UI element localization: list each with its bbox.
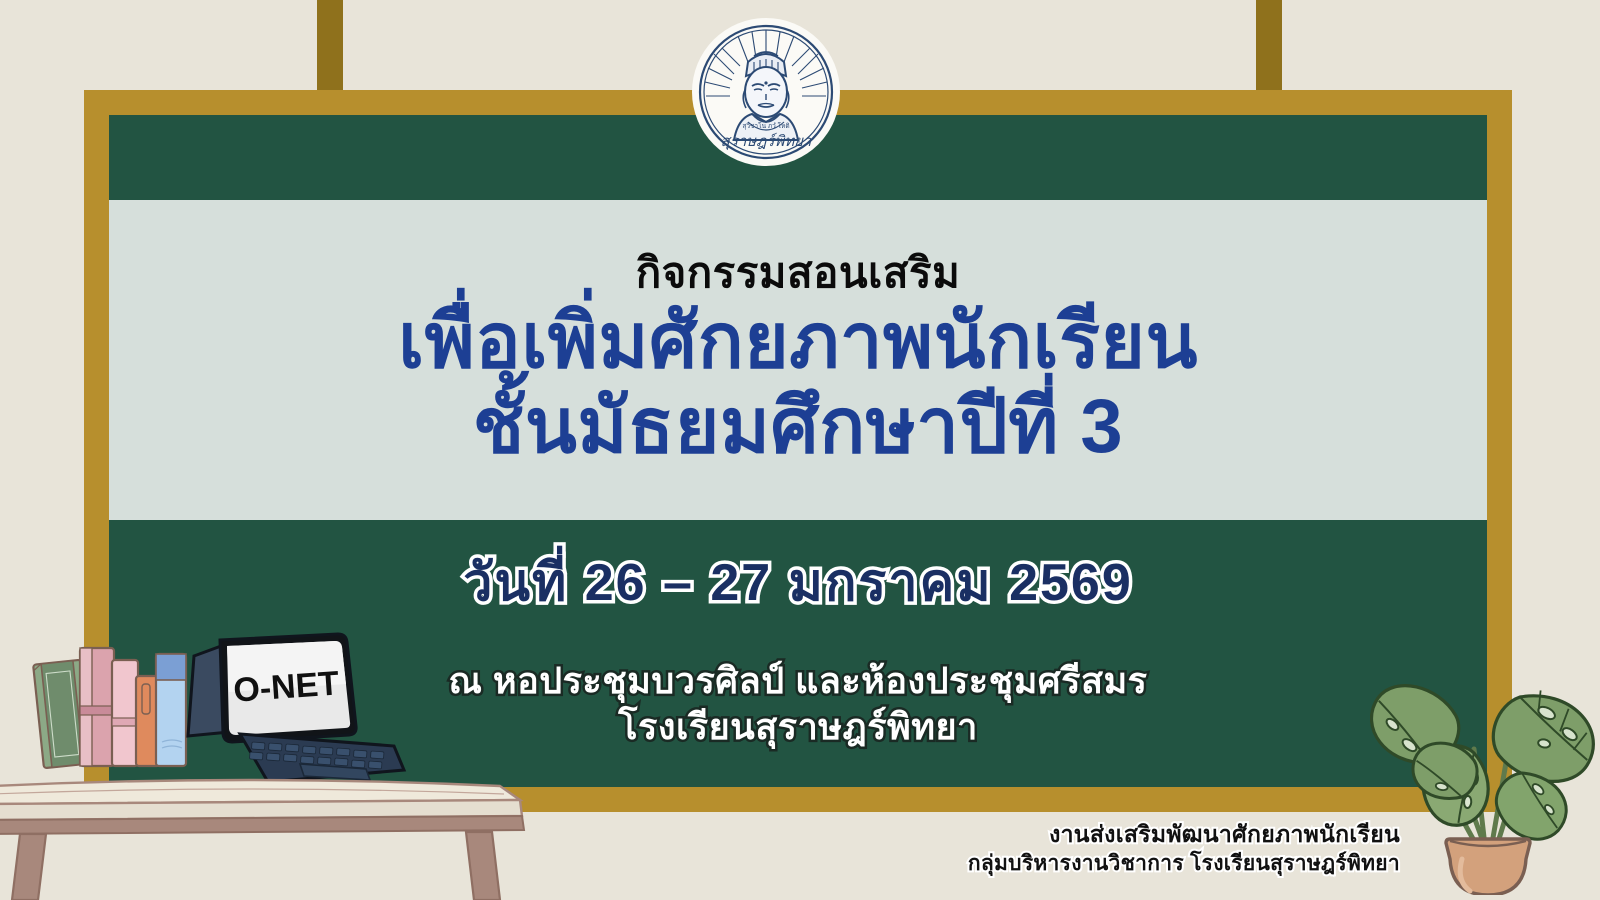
board-hanger-right-strap [1256,0,1282,100]
footer-line-2: กลุ่มบริหารงานวิชาการ โรงเรียนสุราษฎร์พิ… [968,850,1400,878]
event-date: วันที่ 26 – 27 มกราคม 2569 [109,540,1487,623]
poster-canvas: กิจกรรมสอนเสริม เพื่อเพิ่มศักยภาพนักเรีย… [0,0,1600,900]
board-hanger-left-strap [317,0,343,100]
school-crest-icon: สุวิชาโน ภวํ โหติ สุราษฎร์พิทยา [692,18,840,166]
footer-line-1: งานส่งเสริมพัฒนาศักยภาพนักเรียน [968,819,1400,850]
poster-kicker: กิจกรรมสอนเสริม [636,251,961,295]
monstera-plant-illustration [1370,645,1600,900]
tablet-screen-label: O-NET [232,664,340,709]
poster-title-line-1: เพื่อเพิ่มศักยภาพนักเรียน [398,299,1198,384]
crest-school-name: สุราษฎร์พิทยา [721,132,812,150]
crest-motto: สุวิชาโน ภวํ โหติ [742,122,789,130]
title-panel: กิจกรรมสอนเสริม เพื่อเพิ่มศักยภาพนักเรีย… [109,200,1487,520]
poster-title-line-2: ชั้นมัธยมศึกษาปีที่ 3 [473,384,1123,469]
desk-illustration [0,760,540,900]
organizer-footer: งานส่งเสริมพัฒนาศักยภาพนักเรียน กลุ่มบริ… [968,819,1400,878]
